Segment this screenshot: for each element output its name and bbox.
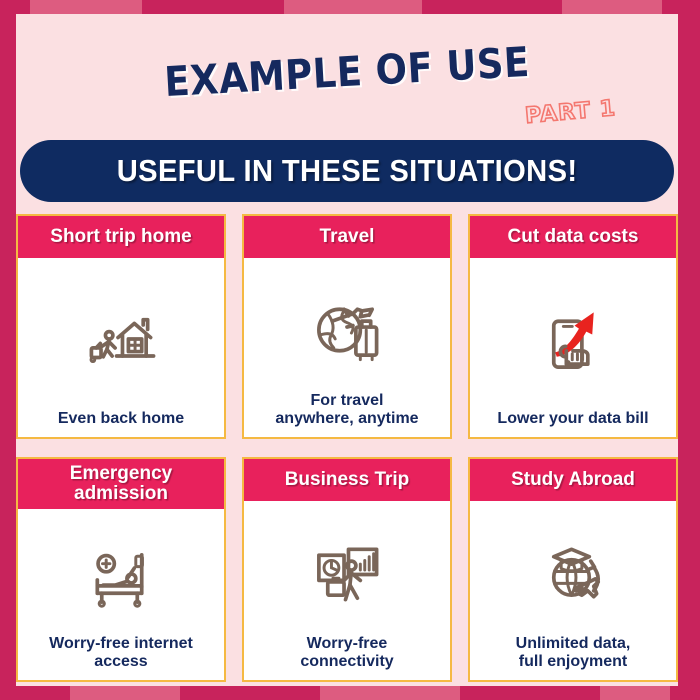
card-header: Cut data costs: [470, 216, 676, 258]
globe-airplane-suitcase-icon: [250, 268, 444, 392]
card-emergency-admission[interactable]: Emergency admission: [16, 457, 226, 682]
card-title: Cut data costs: [508, 227, 639, 247]
banner-text: USEFUL IN THESE SITUATIONS!: [117, 153, 578, 189]
card-header: Emergency admission: [18, 459, 224, 509]
traveler-with-luggage-and-house-icon: [24, 268, 218, 410]
card-title: Short trip home: [50, 227, 191, 247]
card-body: Unlimited data, full enjoyment: [470, 501, 676, 680]
situations-banner: USEFUL IN THESE SITUATIONS!: [20, 140, 674, 202]
card-header: Short trip home: [18, 216, 224, 258]
card-title: Study Abroad: [511, 470, 635, 490]
smartphone-hand-rising-arrow-icon: [476, 268, 670, 410]
card-header: Study Abroad: [470, 459, 676, 501]
card-title: Business Trip: [285, 470, 410, 490]
card-body: Worry-free connectivity: [244, 501, 450, 680]
card-caption: For travel anywhere, anytime: [273, 392, 420, 427]
card-business-trip[interactable]: Business Trip: [242, 457, 452, 682]
card-header: Travel: [244, 216, 450, 258]
card-body: Lower your data bill: [470, 258, 676, 437]
card-caption: Worry-free connectivity: [298, 635, 395, 670]
bottom-stripe-band: [0, 684, 700, 700]
globe-graduation-cap-airplane-icon: [476, 511, 670, 635]
card-header: Business Trip: [244, 459, 450, 501]
card-caption: Worry-free internet access: [47, 635, 195, 670]
card-travel[interactable]: Travel: [242, 214, 452, 439]
card-body: Even back home: [18, 258, 224, 437]
header-zone: EXAMPLE OF USE PART 1 USEFUL IN THESE SI…: [16, 14, 678, 204]
card-caption: Lower your data bill: [495, 410, 650, 427]
card-short-trip-home[interactable]: Short trip home: [16, 214, 226, 439]
card-caption: Even back home: [56, 410, 186, 427]
card-body: For travel anywhere, anytime: [244, 258, 450, 437]
businessman-briefcase-chart-icon: [250, 511, 444, 635]
card-study-abroad[interactable]: Study Abroad: [468, 457, 678, 682]
card-title: Travel: [320, 227, 375, 247]
situation-card-grid: Short trip home: [16, 214, 678, 682]
card-caption: Unlimited data, full enjoyment: [514, 635, 633, 670]
card-cut-data-costs[interactable]: Cut data costs: [468, 214, 678, 439]
card-body: Worry-free internet access: [18, 509, 224, 680]
card-title: Emergency admission: [70, 464, 172, 504]
content-surface: EXAMPLE OF USE PART 1 USEFUL IN THESE SI…: [16, 14, 678, 686]
poster-root: EXAMPLE OF USE PART 1 USEFUL IN THESE SI…: [0, 0, 700, 700]
hospital-bed-patient-icon: [24, 519, 218, 636]
part-badge: PART 1: [524, 96, 617, 129]
